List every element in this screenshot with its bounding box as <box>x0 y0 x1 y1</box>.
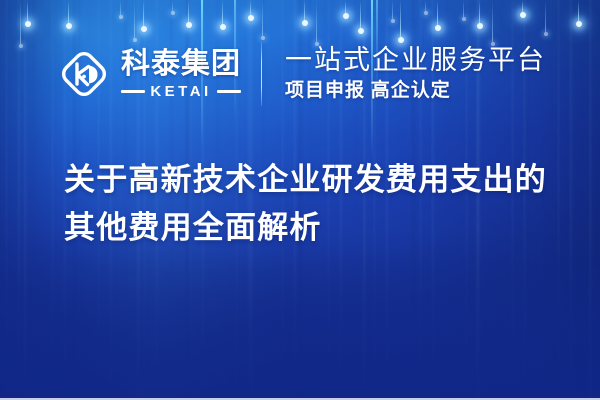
logo-dash-left <box>121 90 145 93</box>
brand-name-en-row: KETAI <box>121 84 241 99</box>
brand-logo-wordmark: 科泰集团 KETAI <box>121 50 241 99</box>
brand-name-en: KETAI <box>145 84 216 99</box>
slogan-main-text: 一站式企业服务平台 <box>285 46 546 75</box>
slogan-sub-text: 项目申报 高企认定 <box>285 81 546 102</box>
logo-dash-right <box>217 90 241 93</box>
brand-name-cn: 科泰集团 <box>121 50 241 79</box>
slogan-block: 一站式企业服务平台 项目申报 高企认定 <box>285 46 546 101</box>
banner-title: 关于高新技术企业研发费用支出的 其他费用全面解析 <box>64 156 564 252</box>
header-divider <box>261 42 262 106</box>
promo-banner: 科泰集团 KETAI 一站式企业服务平台 项目申报 高企认定 关于高新技术企业研… <box>0 0 600 400</box>
brand-logo[interactable]: 科泰集团 KETAI <box>58 48 241 100</box>
title-line-1: 关于高新技术企业研发费用支出的 <box>64 156 564 204</box>
banner-header: 科泰集团 KETAI 一站式企业服务平台 项目申报 高企认定 <box>58 40 546 108</box>
background-bottom-fade <box>0 230 600 400</box>
ketai-diamond-kd-logo-icon <box>58 48 110 100</box>
title-line-2: 其他费用全面解析 <box>64 204 564 252</box>
